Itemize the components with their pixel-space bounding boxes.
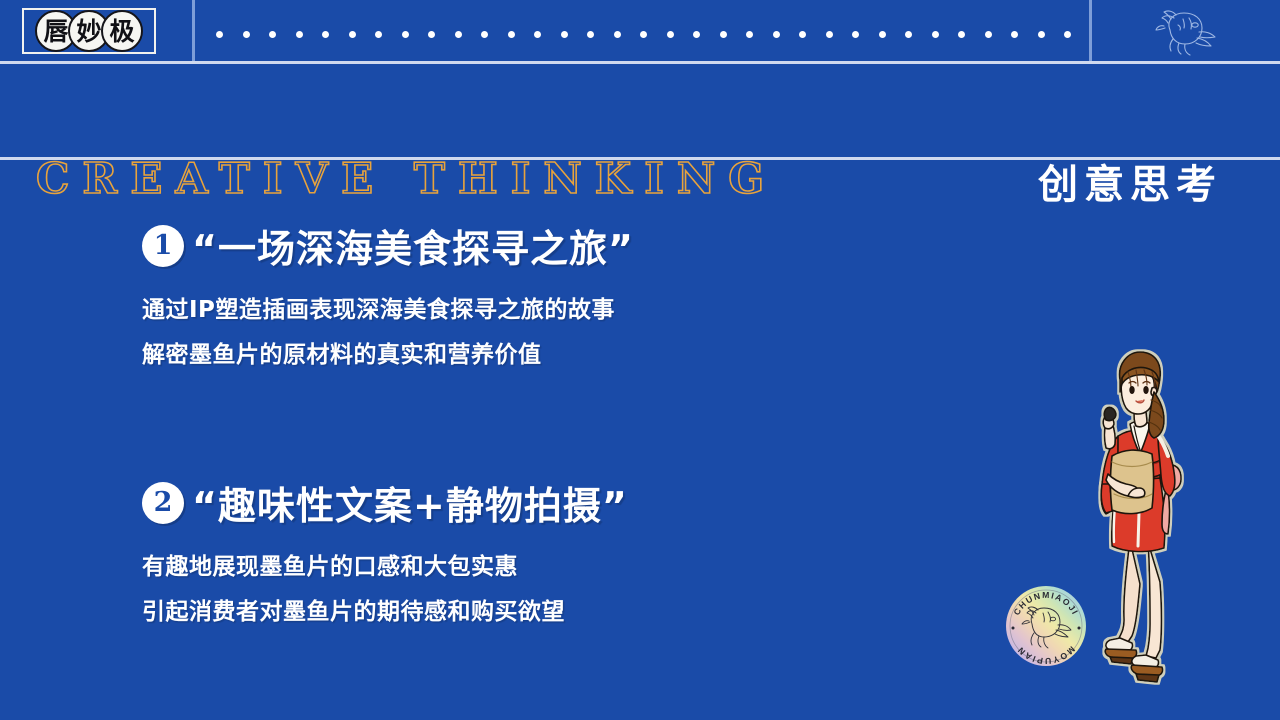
dotted-separator [216,30,1066,38]
block-2-heading: 2 “趣味性文案+静物拍摄” [142,475,628,530]
block-2-heading-text: “趣味性文案+静物拍摄” [192,475,628,530]
separator-dot [216,31,223,38]
vertical-divider-left [192,0,195,61]
separator-dot [1064,31,1071,38]
separator-dot [640,31,647,38]
separator-dot [773,31,780,38]
separator-dot [852,31,859,38]
separator-dot [905,31,912,38]
separator-dot [534,31,541,38]
block-2-number-badge: 2 [142,482,184,524]
separator-dot [720,31,727,38]
girl-in-red-yukata-holding-bag [1084,344,1204,716]
cuttlefish-line-art-icon [1152,6,1222,56]
separator-dot [269,31,276,38]
separator-dot [561,31,568,38]
separator-dot [1038,31,1045,38]
title-band: CREATIVE THINKING 创意思考 [0,64,1280,157]
separator-dot [826,31,833,38]
brand-logo[interactable]: 唇 妙 极 [22,8,156,54]
separator-dot [428,31,435,38]
brand-glyph-3: 极 [101,10,143,52]
separator-dot [322,31,329,38]
separator-dot [587,31,594,38]
block-1-heading: 1 “一场深海美食探寻之旅” [142,218,634,273]
block-2-body: 有趣地展现墨鱼片的口感和大包实惠 引起消费者对墨鱼片的期待感和购买欲望 [142,556,628,624]
separator-dot [932,31,939,38]
badge-dot-left [1012,627,1015,630]
separator-dot [296,31,303,38]
block-1-number-badge: 1 [142,225,184,267]
separator-dot [375,31,382,38]
separator-dot [455,31,462,38]
separator-dot [746,31,753,38]
separator-dot [402,31,409,38]
holographic-brand-sticker: CHUNMIAOJI MOYUPIAN [1004,584,1088,668]
separator-dot [879,31,886,38]
brand-logo-circles: 唇 妙 极 [35,10,143,52]
separator-dot [985,31,992,38]
block-1-line-2: 解密墨鱼片的原材料的真实和营养价值 [142,344,634,367]
separator-dot [1011,31,1018,38]
separator-dot [693,31,700,38]
separator-dot [614,31,621,38]
block-2-line-2: 引起消费者对墨鱼片的期待感和购买欲望 [142,601,628,624]
separator-dot [958,31,965,38]
content-block-1: 1 “一场深海美食探寻之旅” 通过IP塑造插画表现深海美食探寻之旅的故事 解密墨… [142,218,634,389]
separator-dot [481,31,488,38]
block-1-body: 通过IP塑造插画表现深海美食探寻之旅的故事 解密墨鱼片的原材料的真实和营养价值 [142,299,634,367]
top-bar: 唇 妙 极 [0,0,1280,61]
separator-dot [799,31,806,38]
badge-dot-right [1078,627,1081,630]
vertical-divider-right [1089,0,1092,61]
separator-dot [508,31,515,38]
block-1-heading-text: “一场深海美食探寻之旅” [192,218,634,273]
separator-dot [667,31,674,38]
block-2-line-1: 有趣地展现墨鱼片的口感和大包实惠 [142,556,628,579]
separator-dot [349,31,356,38]
content-block-2: 2 “趣味性文案+静物拍摄” 有趣地展现墨鱼片的口感和大包实惠 引起消费者对墨鱼… [142,475,628,646]
block-1-line-1: 通过IP塑造插画表现深海美食探寻之旅的故事 [142,299,634,322]
separator-dot [243,31,250,38]
